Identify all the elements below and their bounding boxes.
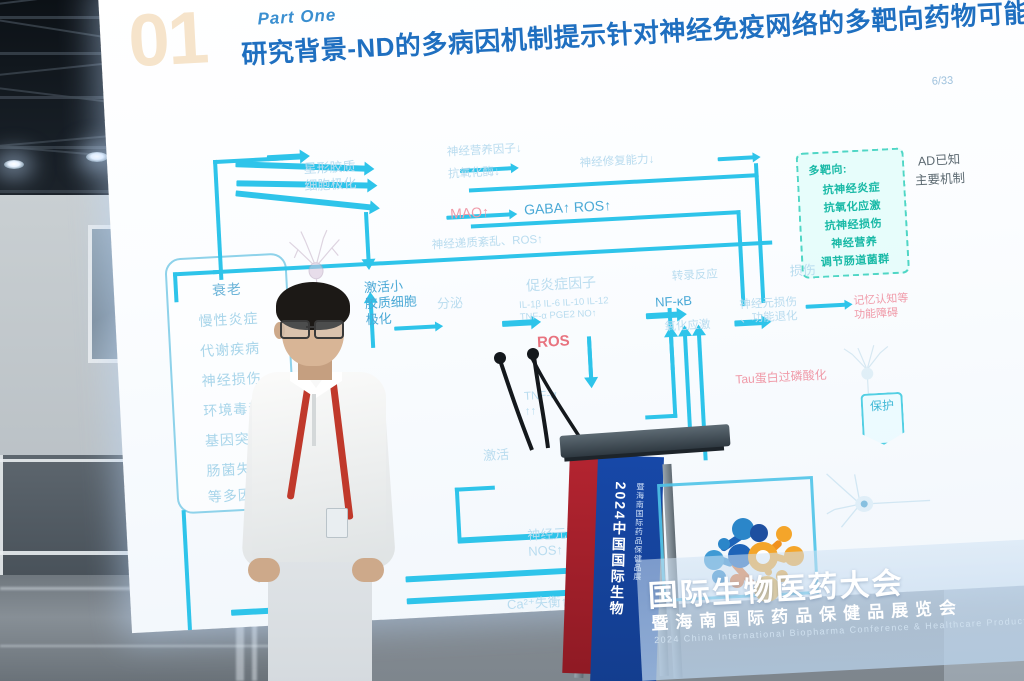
protect-badge-label: 保护 xyxy=(863,399,902,414)
ceiling-light xyxy=(86,152,108,162)
flow-arrow-up xyxy=(683,335,692,433)
flow-arrow xyxy=(718,155,754,161)
multitarget-heading: 多靶向: xyxy=(798,157,903,179)
label-mao: MAO↑ xyxy=(450,204,490,224)
flow-arrow xyxy=(646,312,678,320)
label-neurotrophic: 神经营养因子↓ xyxy=(447,142,522,161)
label-neurotransmitter: 神经递质紊乱、ROS↑ xyxy=(431,233,543,254)
flow-arrow xyxy=(235,190,371,210)
connector xyxy=(455,488,462,542)
connector xyxy=(469,173,759,192)
presenter-shirt xyxy=(252,372,386,562)
presenter-hand xyxy=(352,558,384,582)
bottom-banner: 国际生物医药大会 暨海南国际药品保健品展览会 2024 China Intern… xyxy=(636,538,1024,681)
flow-arrow-up xyxy=(669,336,677,418)
screenshot-root: 01 Part One 研究背景-ND的多病因机制提示针对神经免疫网络的多靶向药… xyxy=(0,0,1024,681)
connector xyxy=(182,510,193,633)
label-neuron-damage: 神经元损伤 、功能退化 xyxy=(739,295,798,327)
presenter xyxy=(246,276,392,681)
ad-known-mechanism-note: AD已知 主要机制 xyxy=(914,150,966,190)
eyeglasses xyxy=(280,320,344,335)
ceiling-light xyxy=(4,160,24,169)
label-damage: 损伤 xyxy=(789,262,816,280)
protect-badge: 保护 xyxy=(860,392,905,446)
label-nfkb: NF-κB xyxy=(655,293,693,312)
label-oxstress: 氧化应激 xyxy=(664,318,711,335)
label-cytokines-list: IL-1β IL-6 IL-10 IL-12 TNF-α PGE2 NO↑ xyxy=(519,295,610,324)
section-number: 01 xyxy=(127,0,209,78)
connector xyxy=(455,486,495,492)
label-repair: 神经修复能力↓ xyxy=(579,153,654,172)
label-cytokines-title: 促炎症因子 xyxy=(526,274,597,296)
multitarget-item: 调节肠道菌群 xyxy=(803,249,908,271)
neuron-illustration xyxy=(833,332,900,401)
shirt-placket xyxy=(312,394,316,446)
label-transcription: 转录反应 xyxy=(671,267,718,284)
label-tau: Tau蛋白过磷酸化 xyxy=(735,368,827,388)
flow-arrow xyxy=(405,567,585,583)
label-astrocyte: 星形胶质 细胞极化 xyxy=(303,159,357,195)
flow-arrow xyxy=(267,153,301,161)
neuron-illustration xyxy=(824,460,938,546)
multitarget-box: 多靶向: 抗神经炎症 抗氧化应激 抗神经损伤 神经营养 调节肠道菌群 xyxy=(795,147,910,279)
label-secrete: 分泌 xyxy=(437,295,464,313)
label-cognition: 记忆认知等 功能障碍 xyxy=(853,291,909,322)
name-badge xyxy=(326,508,348,538)
slide-title: 研究背景-ND的多病因机制提示针对神经免疫网络的多靶向药物可能更有价值 xyxy=(240,0,1024,71)
flow-arrow xyxy=(806,303,846,309)
label-gaba-ros: GABA↑ ROS↑ xyxy=(524,197,612,220)
flow-arrow-down xyxy=(364,212,371,260)
podium-vertical-text: 2024中国国际生物 xyxy=(606,481,630,617)
connector xyxy=(754,163,765,303)
presenter-hand xyxy=(248,558,280,582)
section-label: Part One xyxy=(257,5,337,29)
connector xyxy=(645,414,677,420)
label-antioxidant: 抗氧化酶↓ xyxy=(448,165,500,182)
connector xyxy=(736,210,745,306)
page-number: 6/33 xyxy=(932,75,954,88)
